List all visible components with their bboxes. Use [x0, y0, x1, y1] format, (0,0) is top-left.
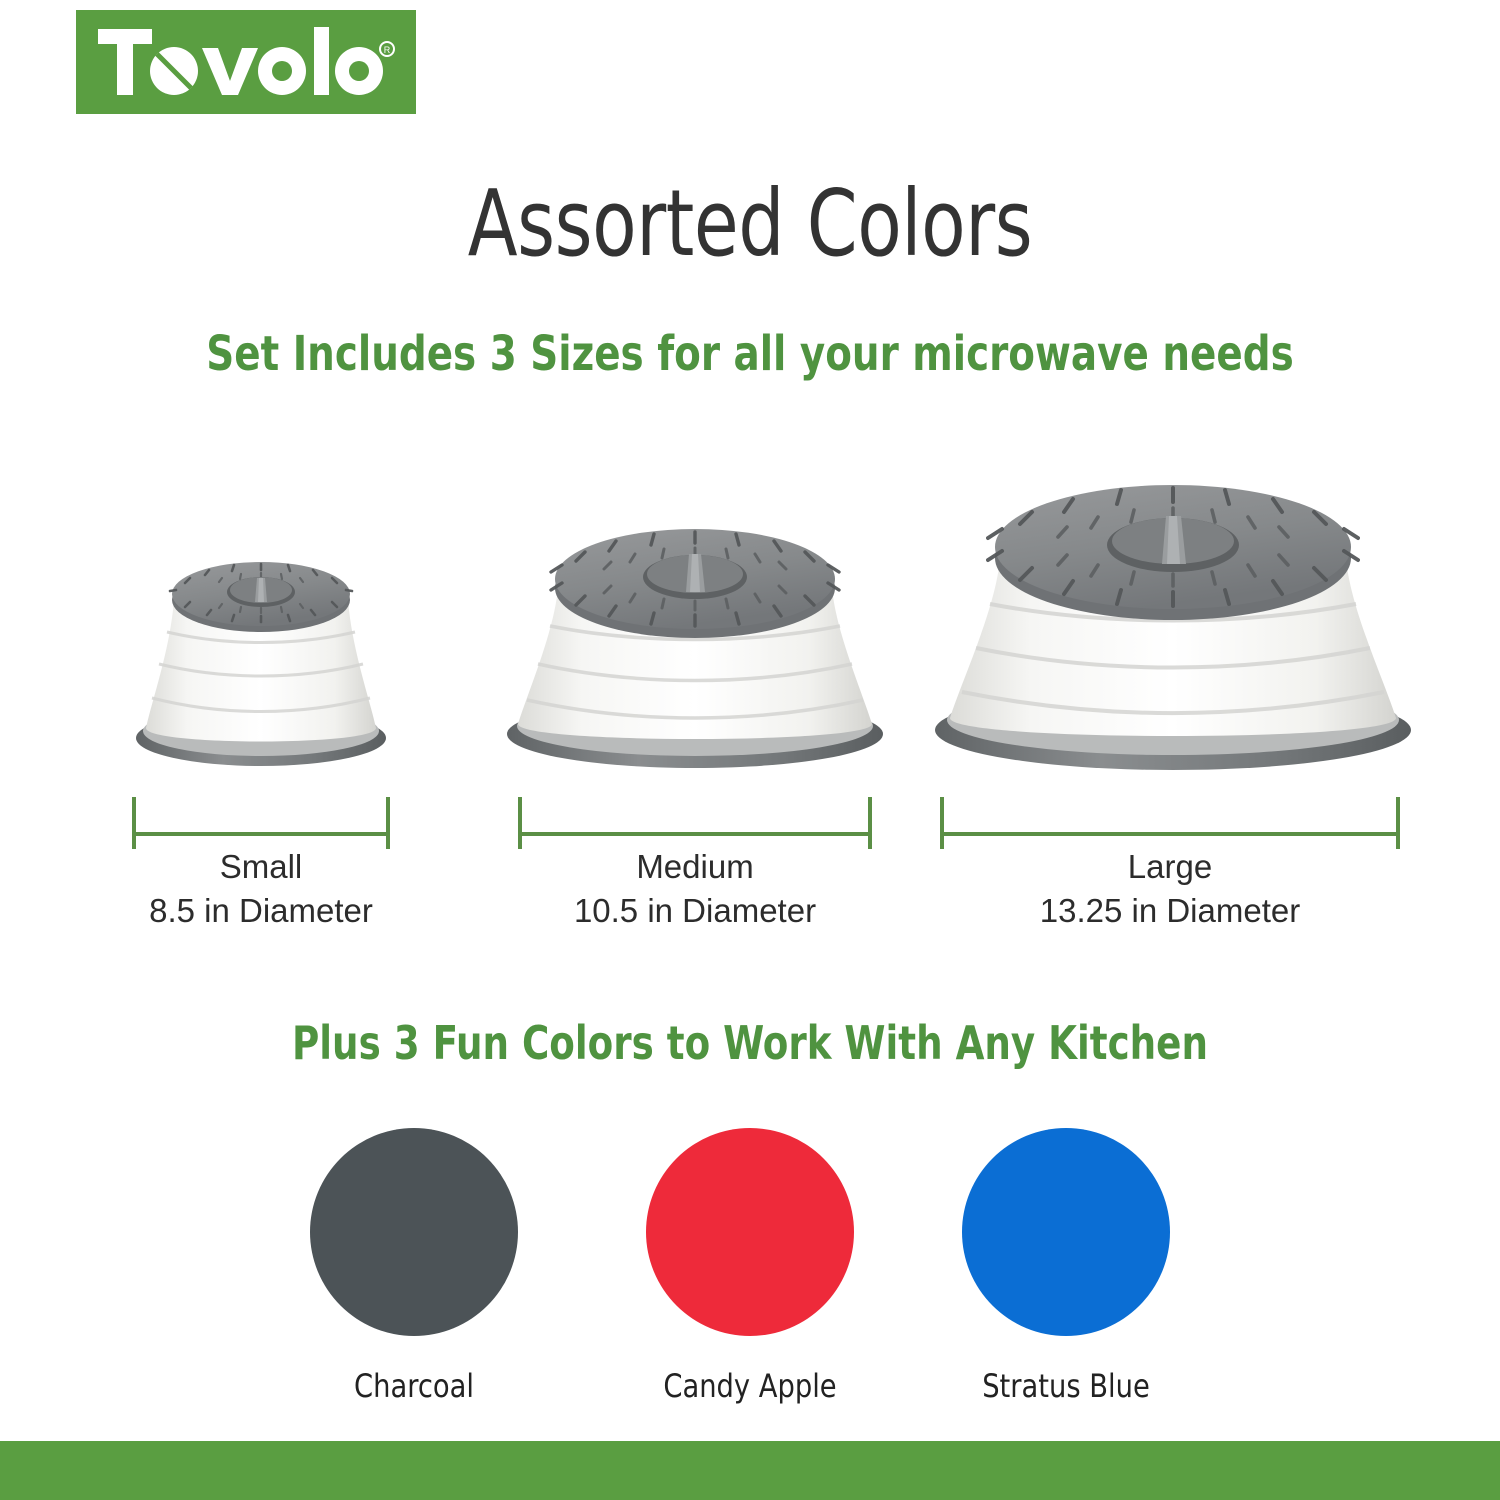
bracket-cap-left — [940, 797, 944, 849]
size-name-small: Small — [92, 845, 430, 889]
microwave-cover-small-icon — [130, 540, 392, 770]
swatch-dot-candy-apple — [646, 1128, 854, 1336]
swatch-label-candy-apple: Candy Apple — [608, 1370, 893, 1402]
bracket-bar — [518, 832, 872, 836]
swatch-label-stratus-blue: Stratus Blue — [924, 1370, 1209, 1402]
infographic-page: R Assorted Colors Set Includes 3 Sizes f… — [0, 0, 1500, 1500]
color-swatch-stratus-blue: Stratus Blue — [916, 1128, 1216, 1402]
size-diameter-small: 8.5 in Diameter — [92, 889, 430, 933]
microwave-cover-large-icon — [928, 454, 1418, 774]
colors-section-heading: Plus 3 Fun Colors to Work With Any Kitch… — [75, 1020, 1425, 1066]
bracket-cap-right — [386, 797, 390, 849]
bracket-cap-right — [1396, 797, 1400, 849]
color-swatch-row: Charcoal Candy Apple Stratus Blue — [0, 1128, 1500, 1428]
product-image-large — [928, 454, 1418, 774]
bracket-bar — [132, 832, 390, 836]
svg-text:R: R — [384, 45, 391, 55]
microwave-cover-medium-icon — [500, 502, 890, 772]
bracket-bar — [940, 832, 1400, 836]
bracket-cap-left — [518, 797, 522, 849]
swatch-dot-charcoal — [310, 1128, 518, 1336]
swatch-label-charcoal: Charcoal — [272, 1370, 557, 1402]
product-image-small — [130, 540, 392, 770]
bracket-cap-right — [868, 797, 872, 849]
size-label-medium: Medium 10.5 in Diameter — [478, 845, 912, 933]
tovolo-wordmark-icon: R — [96, 23, 396, 101]
product-image-medium — [500, 502, 890, 772]
page-title: Assorted Colors — [90, 178, 1410, 270]
size-name-large: Large — [900, 845, 1440, 889]
size-diameter-large: 13.25 in Diameter — [900, 889, 1440, 933]
color-swatch-charcoal: Charcoal — [264, 1128, 564, 1402]
size-label-small: Small 8.5 in Diameter — [92, 845, 430, 933]
bracket-cap-left — [132, 797, 136, 849]
page-subtitle: Set Includes 3 Sizes for all your microw… — [75, 330, 1425, 378]
size-diameter-medium: 10.5 in Diameter — [478, 889, 912, 933]
size-label-large: Large 13.25 in Diameter — [900, 845, 1440, 933]
brand-logo: R — [76, 10, 416, 114]
swatch-dot-stratus-blue — [962, 1128, 1170, 1336]
product-image-row — [0, 430, 1500, 780]
footer-accent-bar — [0, 1441, 1500, 1500]
size-name-medium: Medium — [478, 845, 912, 889]
color-swatch-candy-apple: Candy Apple — [600, 1128, 900, 1402]
